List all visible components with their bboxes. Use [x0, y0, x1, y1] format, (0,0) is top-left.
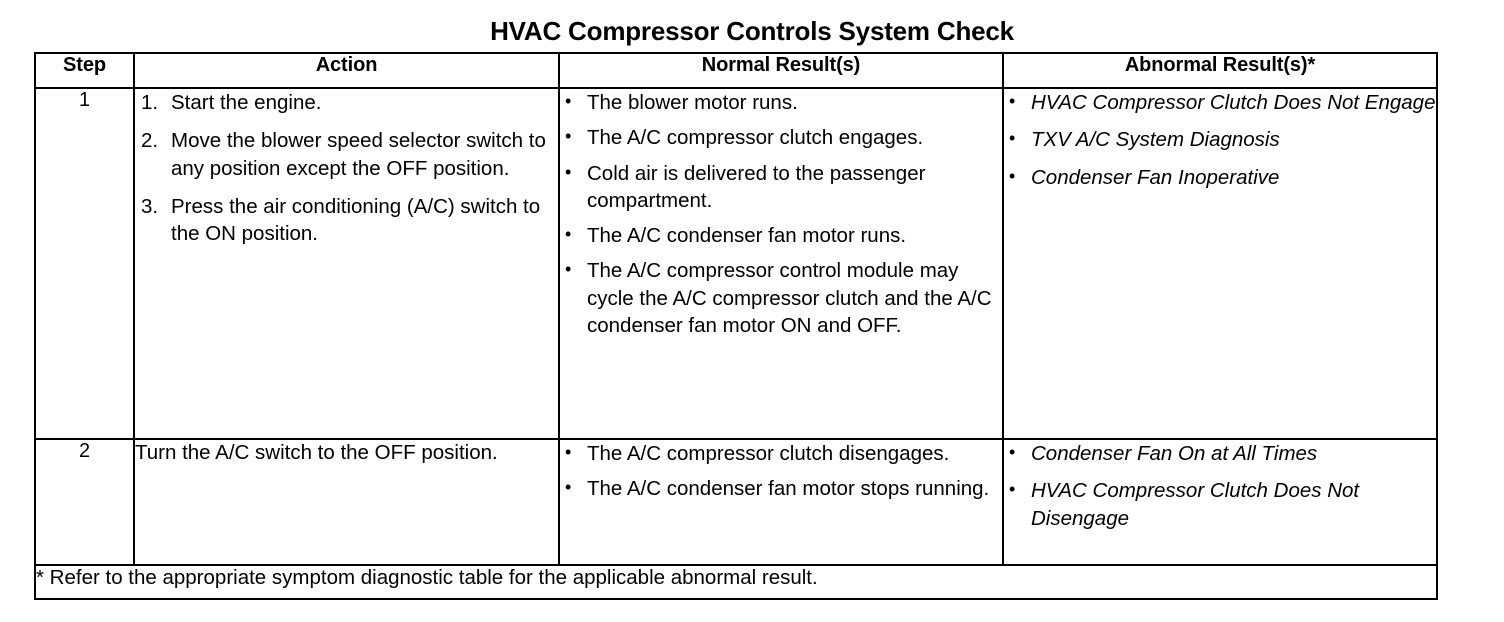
step-number-cell: 2: [35, 439, 134, 565]
list-item: • The A/C compressor clutch disengages.: [560, 440, 1002, 467]
page-title: HVAC Compressor Controls System Check: [0, 16, 1504, 47]
bullet-icon: •: [565, 256, 571, 282]
list-item: • The A/C compressor control module may …: [560, 257, 1002, 339]
bullet-icon: •: [1009, 88, 1015, 114]
list-item: • The A/C compressor clutch engages.: [560, 124, 1002, 151]
list-item-text: Condenser Fan Inoperative: [1031, 166, 1279, 189]
bullet-icon: •: [1009, 163, 1015, 189]
list-item: 2. Move the blower speed selector switch…: [135, 127, 558, 182]
table-header-row: Step Action Normal Result(s) Abnormal Re…: [35, 53, 1437, 88]
list-item: • Condenser Fan On at All Times: [1004, 440, 1436, 467]
system-check-table-container: Step Action Normal Result(s) Abnormal Re…: [34, 52, 1436, 600]
normal-result-cell: • The A/C compressor clutch disengages. …: [559, 439, 1003, 565]
action-cell: Turn the A/C switch to the OFF position.: [134, 439, 559, 565]
bullet-icon: •: [565, 88, 571, 114]
list-item-text: The A/C condenser fan motor stops runnin…: [587, 477, 989, 500]
list-item: • HVAC Compressor Clutch Does Not Diseng…: [1004, 477, 1436, 532]
list-item-text: The A/C compressor clutch disengages.: [587, 442, 949, 465]
list-item: • Condenser Fan Inoperative: [1004, 164, 1436, 191]
step-number-cell: 1: [35, 88, 134, 439]
list-item-text: Press the air conditioning (A/C) switch …: [171, 195, 540, 245]
table-row: 2 Turn the A/C switch to the OFF positio…: [35, 439, 1437, 565]
list-item-text: The A/C condenser fan motor runs.: [587, 224, 906, 247]
list-item-text: HVAC Compressor Clutch Does Not Disengag…: [1031, 479, 1359, 529]
abnormal-result-list: • Condenser Fan On at All Times • HVAC C…: [1004, 440, 1436, 532]
list-item: • The A/C condenser fan motor stops runn…: [560, 475, 1002, 502]
table-row: 1 1. Start the engine. 2. Move the blowe…: [35, 88, 1437, 439]
list-item: • TXV A/C System Diagnosis: [1004, 126, 1436, 153]
system-check-table: Step Action Normal Result(s) Abnormal Re…: [34, 52, 1438, 600]
bullet-icon: •: [1009, 476, 1015, 502]
page-root: HVAC Compressor Controls System Check St…: [0, 0, 1504, 622]
list-item-number: 1.: [141, 89, 158, 116]
footnote-text: * Refer to the appropriate symptom diagn…: [35, 565, 1437, 599]
table-footnote-row: * Refer to the appropriate symptom diagn…: [35, 565, 1437, 599]
column-header-normal-result: Normal Result(s): [559, 53, 1003, 88]
action-text: Turn the A/C switch to the OFF position.: [135, 440, 558, 466]
bullet-icon: •: [565, 474, 571, 500]
column-header-abnormal-result: Abnormal Result(s)*: [1003, 53, 1437, 88]
list-item-number: 3.: [141, 193, 158, 220]
list-item-text: HVAC Compressor Clutch Does Not Engage: [1031, 91, 1436, 114]
list-item-text: Start the engine.: [171, 91, 321, 114]
list-item-number: 2.: [141, 127, 158, 154]
column-header-step: Step: [35, 53, 134, 88]
table-header: Step Action Normal Result(s) Abnormal Re…: [35, 53, 1437, 88]
list-item-text: Condenser Fan On at All Times: [1031, 442, 1317, 465]
list-item: 3. Press the air conditioning (A/C) swit…: [135, 193, 558, 248]
bullet-icon: •: [565, 439, 571, 465]
normal-result-cell: • The blower motor runs. • The A/C compr…: [559, 88, 1003, 439]
bullet-icon: •: [565, 221, 571, 247]
bullet-icon: •: [565, 123, 571, 149]
abnormal-result-cell: • HVAC Compressor Clutch Does Not Engage…: [1003, 88, 1437, 439]
list-item-text: The A/C compressor control module may cy…: [587, 259, 992, 337]
bullet-icon: •: [1009, 125, 1015, 151]
list-item: • HVAC Compressor Clutch Does Not Engage: [1004, 89, 1436, 116]
list-item-text: TXV A/C System Diagnosis: [1031, 128, 1280, 151]
list-item: 1. Start the engine.: [135, 89, 558, 116]
list-item: • Cold air is delivered to the passenger…: [560, 160, 1002, 215]
list-item-text: Cold air is delivered to the passenger c…: [587, 162, 925, 212]
list-item-text: The A/C compressor clutch engages.: [587, 126, 923, 149]
column-header-action: Action: [134, 53, 559, 88]
normal-result-list: • The A/C compressor clutch disengages. …: [560, 440, 1002, 503]
abnormal-result-cell: • Condenser Fan On at All Times • HVAC C…: [1003, 439, 1437, 565]
list-item: • The A/C condenser fan motor runs.: [560, 222, 1002, 249]
abnormal-result-list: • HVAC Compressor Clutch Does Not Engage…: [1004, 89, 1436, 191]
action-cell: 1. Start the engine. 2. Move the blower …: [134, 88, 559, 439]
list-item-text: Move the blower speed selector switch to…: [171, 129, 546, 179]
list-item-text: The blower motor runs.: [587, 91, 798, 114]
table-body: 1 1. Start the engine. 2. Move the blowe…: [35, 88, 1437, 599]
action-numbered-list: 1. Start the engine. 2. Move the blower …: [135, 89, 558, 247]
normal-result-list: • The blower motor runs. • The A/C compr…: [560, 89, 1002, 339]
bullet-icon: •: [565, 159, 571, 185]
bullet-icon: •: [1009, 439, 1015, 465]
list-item: • The blower motor runs.: [560, 89, 1002, 116]
